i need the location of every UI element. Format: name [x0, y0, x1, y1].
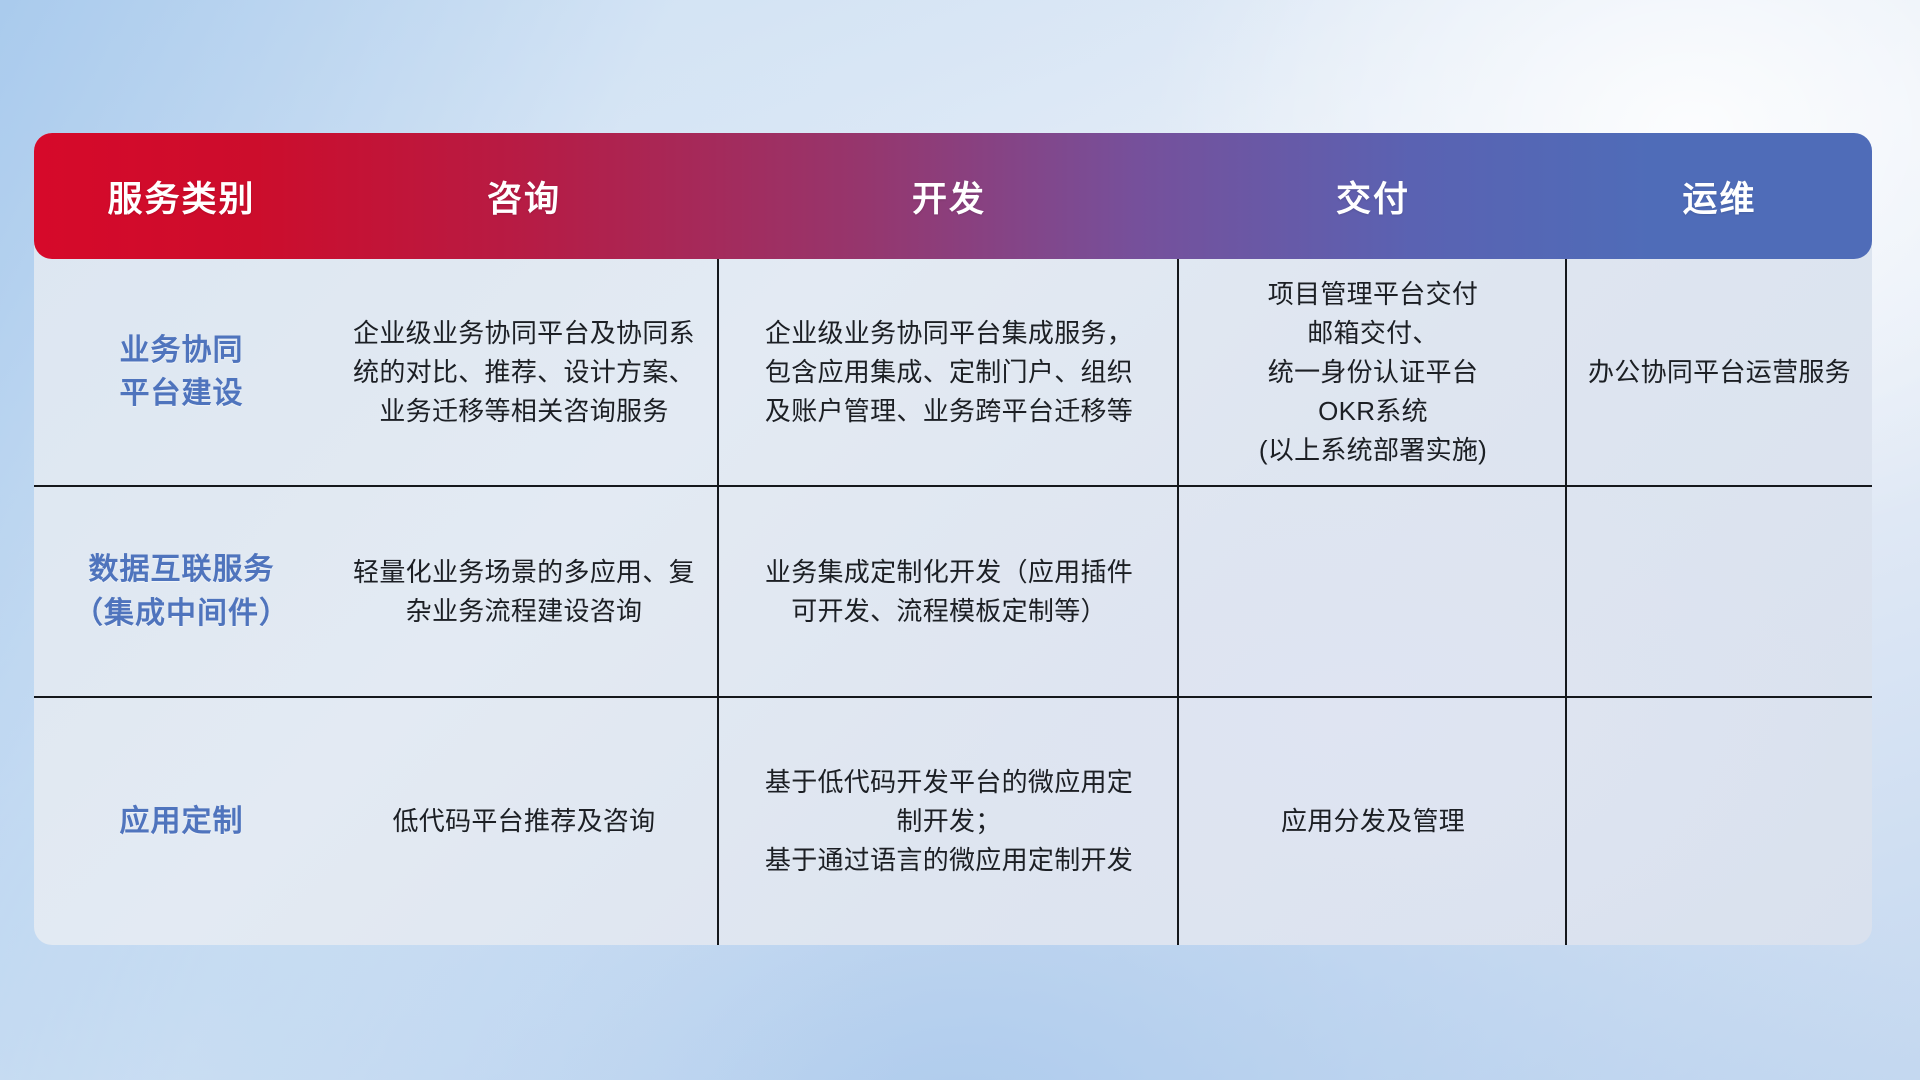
cell-consulting: 轻量化业务场景的多应用、复 杂业务流程建设咨询	[329, 487, 719, 696]
cell-text: 低代码平台推荐及咨询	[392, 802, 655, 841]
table-row: 应用定制 低代码平台推荐及咨询 基于低代码开发平台的微应用定 制开发； 基于通过…	[34, 698, 1872, 945]
column-header-consulting: 咨询	[329, 133, 719, 259]
table-row: 数据互联服务 （集成中间件） 轻量化业务场景的多应用、复 杂业务流程建设咨询 业…	[34, 487, 1872, 698]
cell-development: 业务集成定制化开发（应用插件 可开发、流程模板定制等）	[719, 487, 1179, 696]
table-row: 业务协同 平台建设 企业级业务协同平台及协同系 统的对比、推荐、设计方案、 业务…	[34, 259, 1872, 487]
table-header-row: 服务类别 咨询 开发 交付 运维	[34, 133, 1872, 259]
cell-delivery	[1179, 487, 1567, 696]
cell-consulting: 企业级业务协同平台及协同系 统的对比、推荐、设计方案、 业务迁移等相关咨询服务	[329, 259, 719, 485]
slide-canvas: 服务类别 咨询 开发 交付 运维 业务协同 平台建设 企业级业务协同平台及协同系…	[0, 0, 1920, 1080]
cell-text: 轻量化业务场景的多应用、复 杂业务流程建设咨询	[353, 553, 695, 631]
column-header-operations-label: 运维	[1682, 171, 1756, 222]
column-header-category: 服务类别	[34, 133, 329, 259]
cell-consulting: 低代码平台推荐及咨询	[329, 698, 719, 945]
cell-text: 业务集成定制化开发（应用插件 可开发、流程模板定制等）	[765, 553, 1133, 631]
cell-text: 企业级业务协同平台及协同系 统的对比、推荐、设计方案、 业务迁移等相关咨询服务	[353, 314, 695, 431]
table-body: 业务协同 平台建设 企业级业务协同平台及协同系 统的对比、推荐、设计方案、 业务…	[34, 259, 1872, 945]
column-header-operations: 运维	[1567, 133, 1872, 259]
cell-text: 应用分发及管理	[1281, 802, 1465, 841]
cell-category: 数据互联服务 （集成中间件）	[34, 487, 329, 696]
column-header-delivery: 交付	[1179, 133, 1567, 259]
cell-operations	[1567, 698, 1872, 945]
cell-development: 基于低代码开发平台的微应用定 制开发； 基于通过语言的微应用定制开发	[719, 698, 1179, 945]
cell-development: 企业级业务协同平台集成服务， 包含应用集成、定制门户、组织 及账户管理、业务跨平…	[719, 259, 1179, 485]
cell-category: 应用定制	[34, 698, 329, 945]
cell-operations: 办公协同平台运营服务	[1567, 259, 1872, 485]
cell-delivery: 应用分发及管理	[1179, 698, 1567, 945]
column-header-category-label: 服务类别	[107, 171, 255, 222]
column-header-development: 开发	[719, 133, 1179, 259]
category-label: 应用定制	[120, 800, 244, 844]
cell-text: 企业级业务协同平台集成服务， 包含应用集成、定制门户、组织 及账户管理、业务跨平…	[765, 314, 1133, 431]
cell-delivery: 项目管理平台交付 邮箱交付、 统一身份认证平台 OKR系统 (以上系统部署实施)	[1179, 259, 1567, 485]
cell-category: 业务协同 平台建设	[34, 259, 329, 485]
column-header-consulting-label: 咨询	[487, 171, 561, 222]
cell-text: 项目管理平台交付 邮箱交付、 统一身份认证平台 OKR系统 (以上系统部署实施)	[1259, 275, 1487, 470]
category-label: 数据互联服务 （集成中间件）	[73, 548, 290, 635]
cell-operations	[1567, 487, 1872, 696]
column-header-development-label: 开发	[912, 171, 986, 222]
cell-text: 基于低代码开发平台的微应用定 制开发； 基于通过语言的微应用定制开发	[765, 763, 1133, 880]
column-header-delivery-label: 交付	[1336, 171, 1410, 222]
category-label: 业务协同 平台建设	[120, 329, 244, 416]
cell-text: 办公协同平台运营服务	[1588, 353, 1851, 392]
